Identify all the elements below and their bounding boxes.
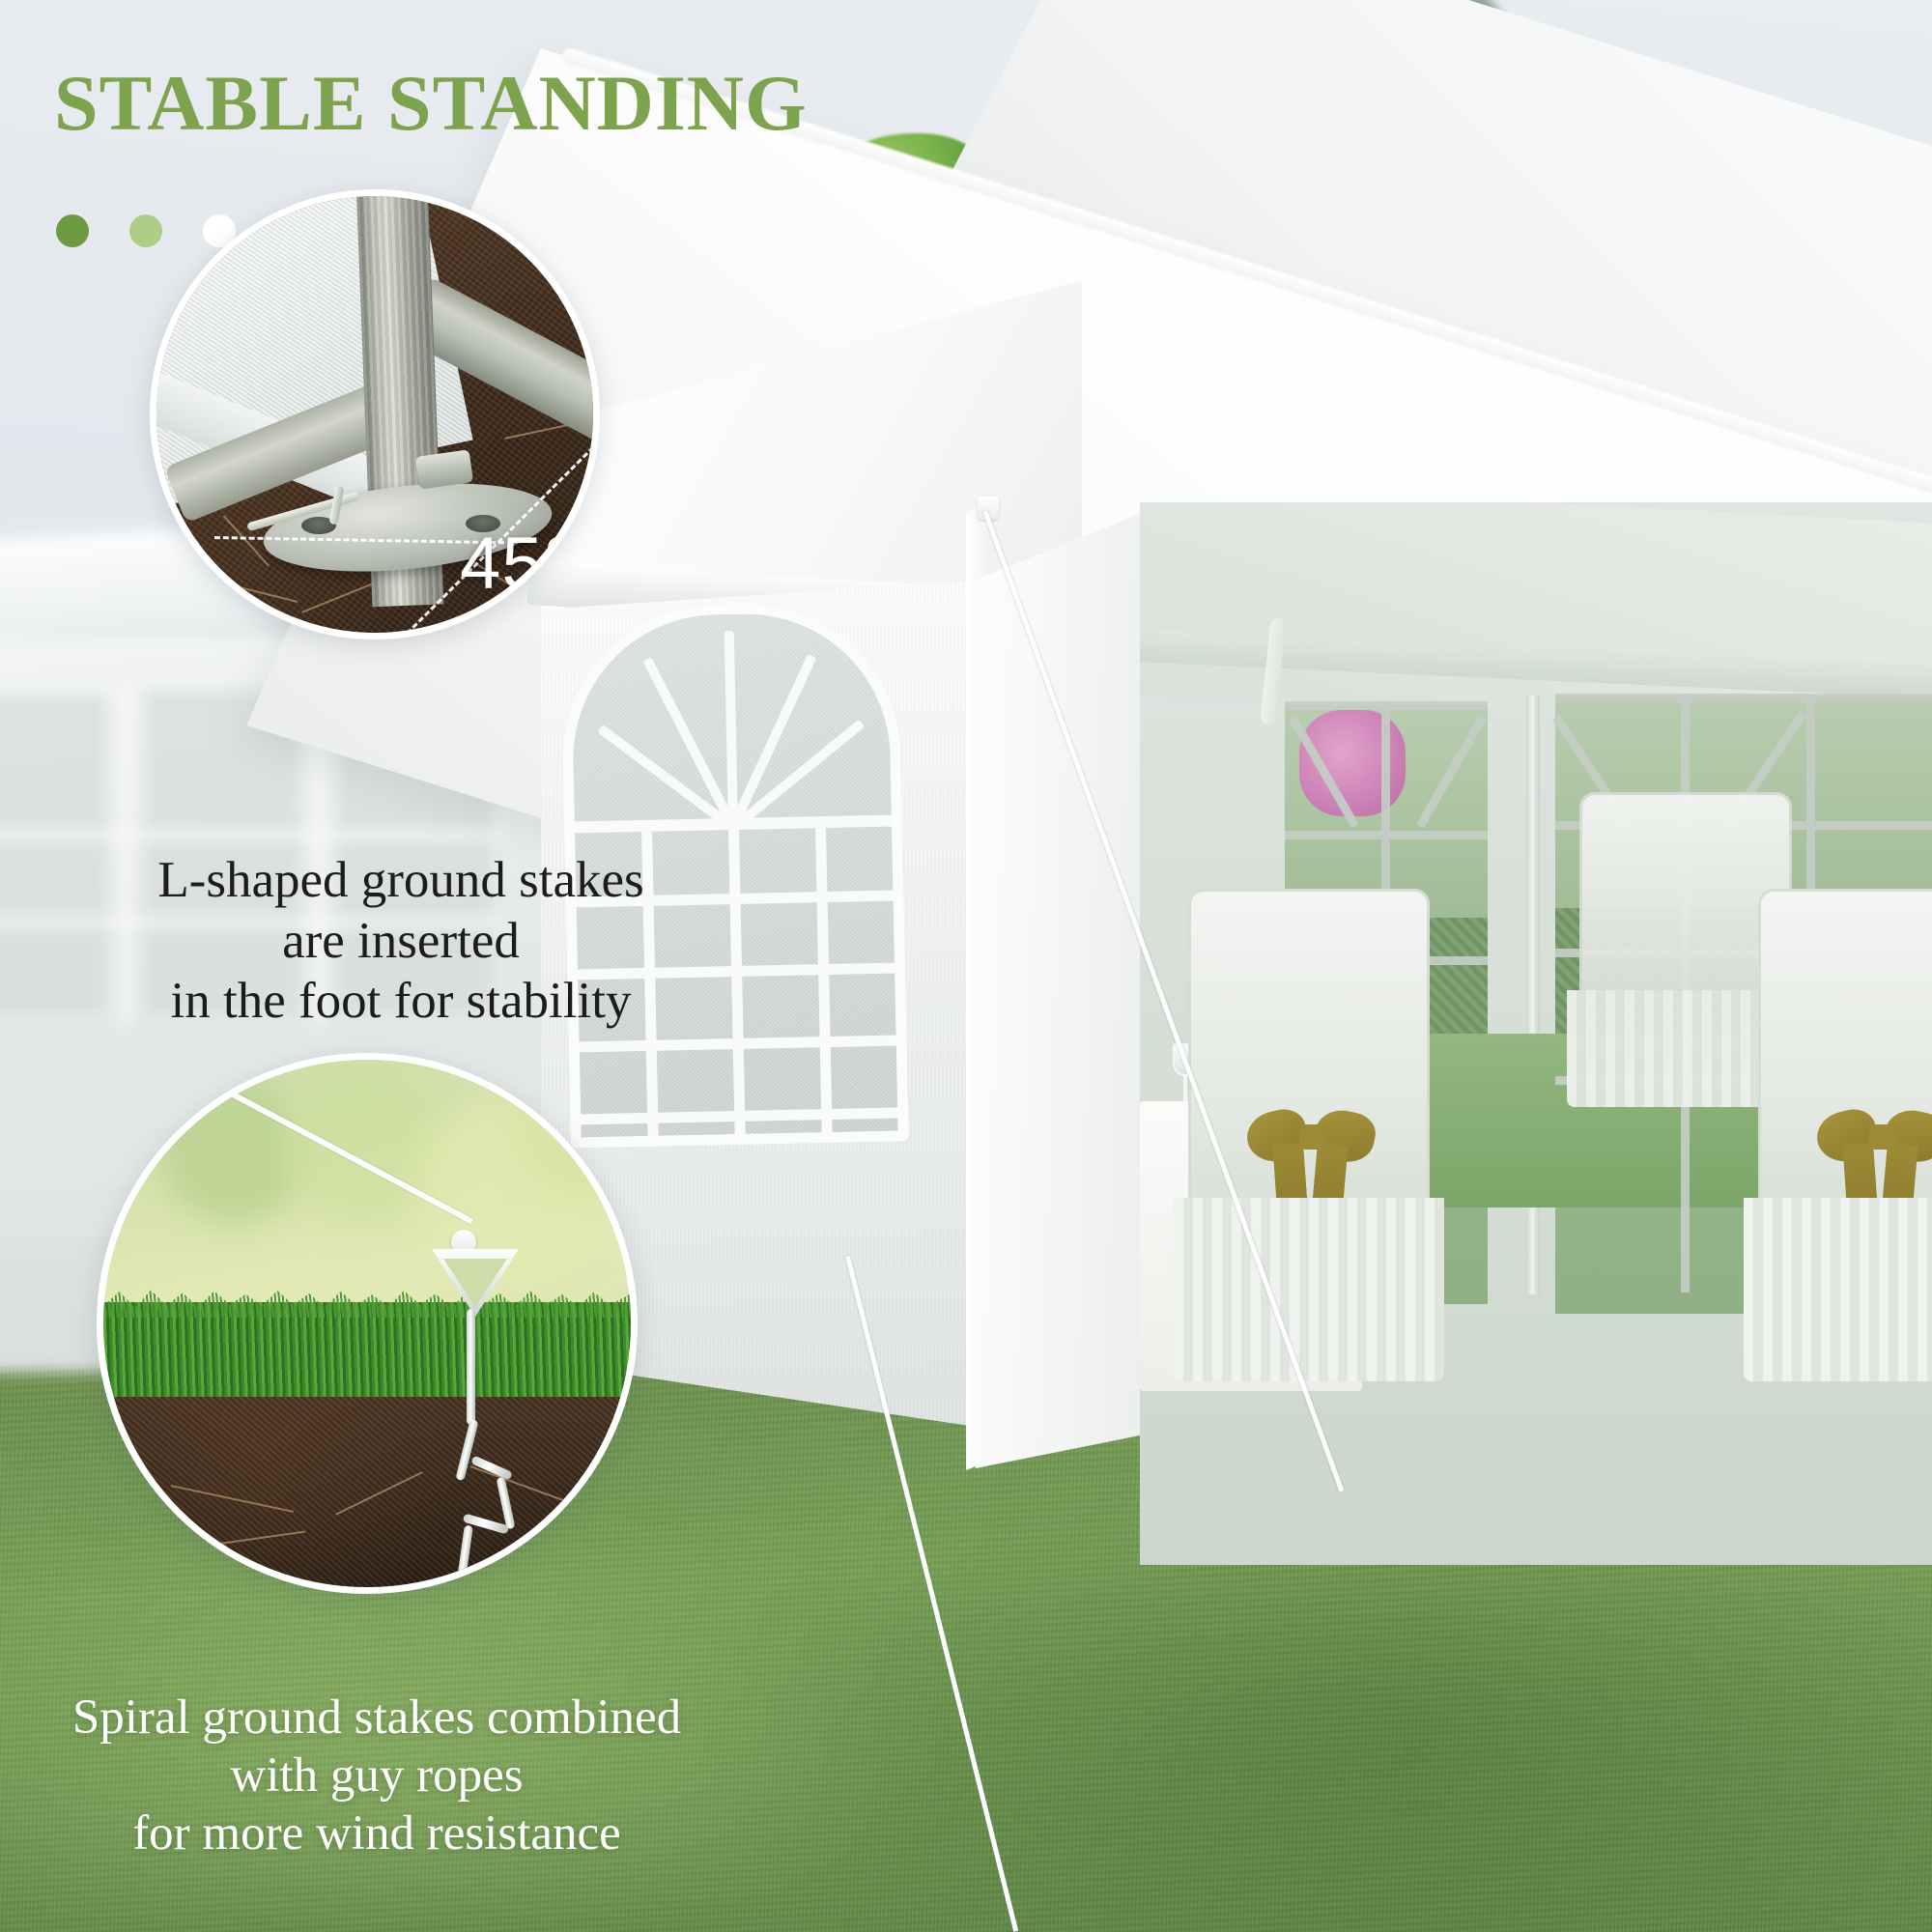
caption-top-line-2: are inserted [72, 911, 729, 972]
caption-top-line-3: in the foot for stability [72, 971, 729, 1032]
banquet-chair [1758, 889, 1932, 1372]
soil-cross-section [103, 1397, 631, 1587]
product-feature-image: STABLE STANDING 45° L-shaped ground st [0, 0, 1932, 1932]
caption-top: L-shaped ground stakes are inserted in t… [72, 850, 729, 1032]
caption-bottom-line-3: for more wind resistance [29, 1804, 724, 1862]
caption-bottom-line-2: with guy ropes [29, 1747, 724, 1804]
tent-interior [1140, 502, 1932, 1565]
headline: STABLE STANDING [54, 64, 923, 143]
grass-cross-section [103, 1302, 631, 1407]
caption-top-line-1: L-shaped ground stakes [72, 850, 729, 911]
caption-bottom-line-1: Spiral ground stakes combined [29, 1689, 724, 1747]
spiral-stake-detail-circle [97, 1053, 638, 1594]
angle-label: 45° [460, 522, 574, 606]
caption-bottom: Spiral ground stakes combined with guy r… [29, 1689, 724, 1863]
spiral-stake-shaft [467, 1309, 475, 1425]
banquet-chair [1188, 889, 1430, 1372]
pole-foot-detail-circle: 45° [150, 189, 600, 639]
dot-dark-green-icon [56, 214, 89, 247]
